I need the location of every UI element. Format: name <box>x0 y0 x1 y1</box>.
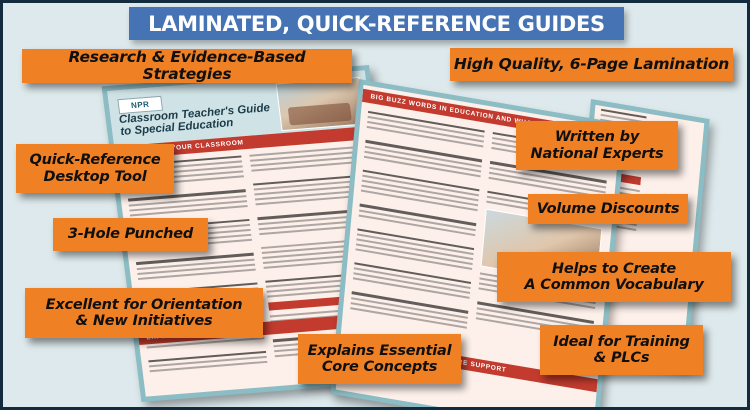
callout-research-strategies: Research & Evidence-Based Strategies <box>22 49 352 83</box>
callout-core-concepts: Explains Essential Core Concepts <box>298 334 461 384</box>
callout-training-plcs: Ideal for Training & PLCs <box>540 325 703 375</box>
callout-three-hole-punched: 3-Hole Punched <box>53 218 208 251</box>
poster-canvas: NPR Classroom Teacher's Guide to Special… <box>3 3 747 407</box>
callout-common-vocabulary: Helps to Create A Common Vocabulary <box>497 252 731 302</box>
page-title-banner: LAMINATED, QUICK-REFERENCE GUIDES <box>129 7 624 40</box>
callout-high-quality: High Quality, 6-Page Lamination <box>450 48 733 81</box>
cover-photo-thumbnail <box>276 77 366 131</box>
callout-written-by-experts: Written by National Experts <box>516 121 678 170</box>
callout-orientation: Excellent for Orientation & New Initiati… <box>25 288 263 338</box>
callout-desktop-tool: Quick-Reference Desktop Tool <box>16 144 174 193</box>
callout-volume-discounts: Volume Discounts <box>528 194 688 224</box>
